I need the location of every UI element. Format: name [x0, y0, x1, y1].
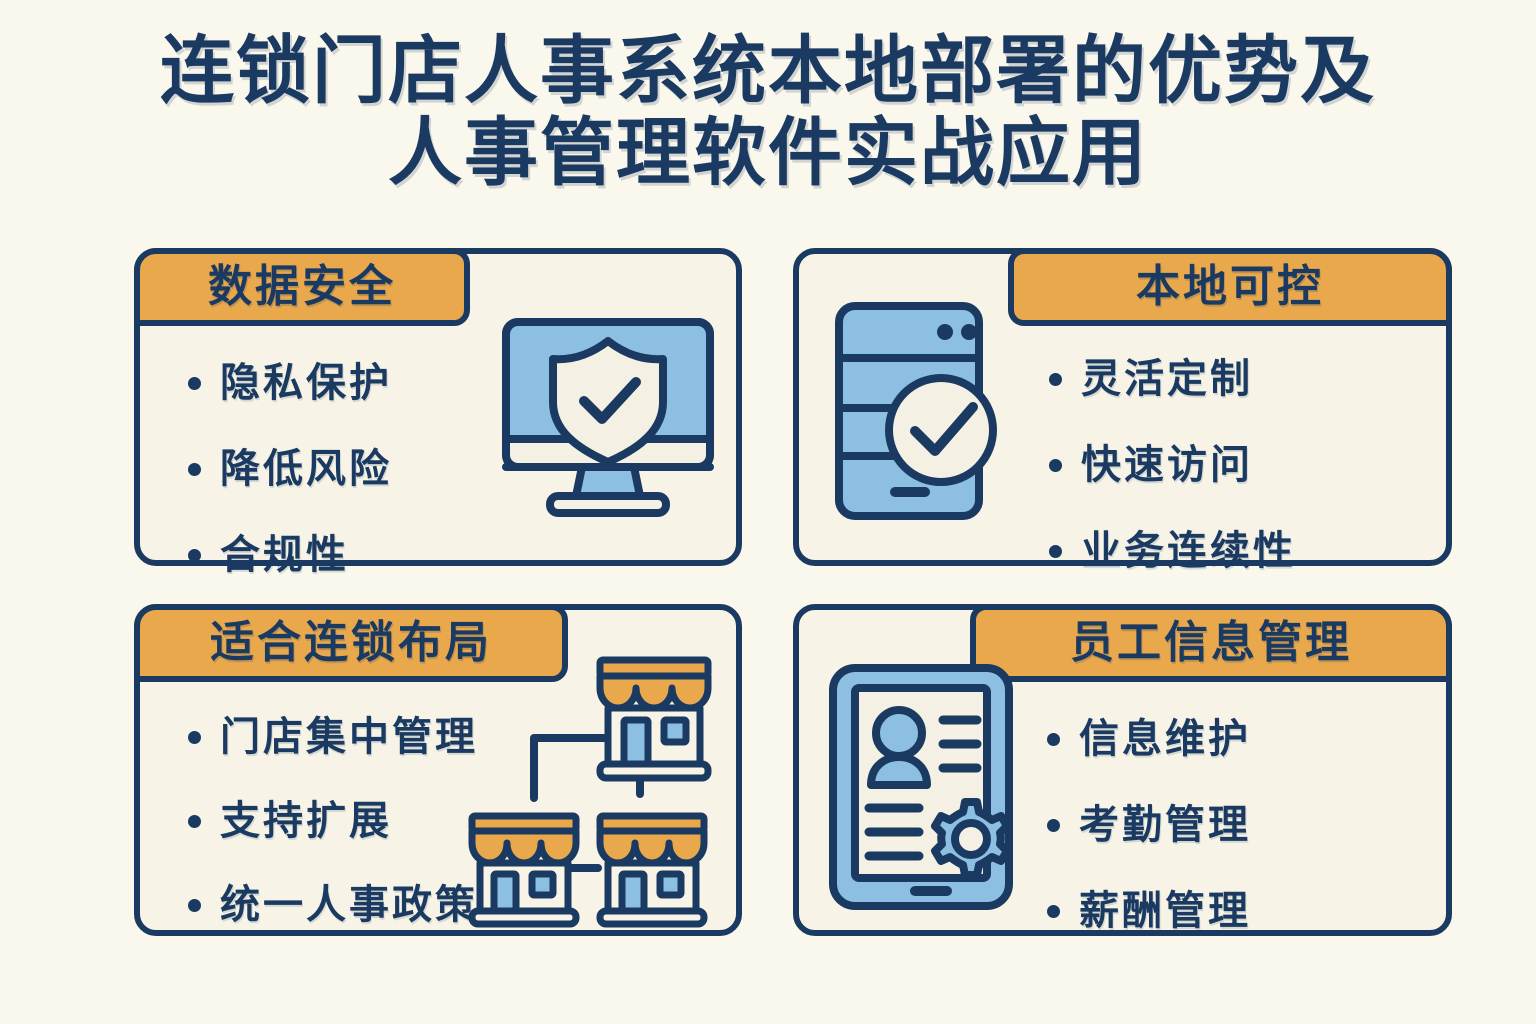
page-title-line-2: 人事管理软件实战应用	[0, 112, 1536, 194]
bullet-list: 灵活定制 快速访问 业务连续性	[1049, 358, 1296, 572]
list-item-label: 门店集中管理	[220, 716, 478, 758]
card-employee-info[interactable]: 员工信息管理 信息维护 考勤管理 薪酬管理	[793, 604, 1452, 936]
bullet-dot-icon	[1047, 733, 1060, 746]
list-item: 降低风险	[188, 448, 392, 490]
list-item: 信息维护	[1047, 718, 1251, 760]
list-item-label: 业务连续性	[1081, 530, 1296, 572]
card-header-label: 数据安全	[208, 264, 396, 310]
bullet-dot-icon	[1049, 459, 1062, 472]
list-item: 隐私保护	[188, 362, 392, 404]
card-header-label: 员工信息管理	[1070, 620, 1352, 666]
list-item: 灵活定制	[1049, 358, 1296, 400]
server-check-icon	[833, 300, 1013, 522]
list-item-label: 薪酬管理	[1079, 890, 1251, 932]
list-item-label: 合规性	[220, 534, 349, 576]
list-item-label: 支持扩展	[220, 800, 392, 842]
card-header-label: 本地可控	[1136, 264, 1324, 310]
page-title: 连锁门店人事系统本地部署的优势及 人事管理软件实战应用	[0, 30, 1536, 194]
bullet-dot-icon	[1049, 545, 1062, 558]
monitor-shield-icon	[498, 316, 718, 522]
list-item: 统一人事政策	[188, 884, 478, 926]
bullet-list: 门店集中管理 支持扩展 统一人事政策	[188, 716, 478, 926]
bullet-dot-icon	[1049, 373, 1062, 386]
list-item-label: 快速访问	[1081, 444, 1253, 486]
bullet-list: 信息维护 考勤管理 薪酬管理	[1047, 718, 1251, 932]
bullet-dot-icon	[188, 815, 201, 828]
card-chain-layout[interactable]: 适合连锁布局 门店集中管理 支持扩展 统一人事政策	[134, 604, 742, 936]
list-item-label: 灵活定制	[1081, 358, 1253, 400]
card-header-badge: 本地可控	[1008, 248, 1452, 326]
list-item: 快速访问	[1049, 444, 1296, 486]
bullet-dot-icon	[1047, 819, 1060, 832]
card-local-control[interactable]: 本地可控 灵活定制 快速访问 业务连续性	[793, 248, 1452, 566]
bullet-dot-icon	[188, 899, 201, 912]
list-item: 合规性	[188, 534, 392, 576]
card-data-security[interactable]: 数据安全 隐私保护 降低风险 合规性	[134, 248, 742, 566]
list-item: 支持扩展	[188, 800, 478, 842]
bullet-list: 隐私保护 降低风险 合规性	[188, 362, 392, 576]
bullet-dot-icon	[188, 463, 201, 476]
list-item: 薪酬管理	[1047, 890, 1251, 932]
bullet-dot-icon	[188, 549, 201, 562]
card-header-badge: 数据安全	[134, 248, 470, 326]
list-item-label: 隐私保护	[220, 362, 392, 404]
bullet-dot-icon	[1047, 905, 1060, 918]
store-network-icon	[470, 652, 730, 924]
card-header-badge: 员工信息管理	[970, 604, 1452, 682]
list-item: 门店集中管理	[188, 716, 478, 758]
card-header-label: 适合连锁布局	[210, 620, 492, 666]
bullet-dot-icon	[188, 731, 201, 744]
list-item: 考勤管理	[1047, 804, 1251, 846]
list-item-label: 降低风险	[220, 448, 392, 490]
list-item: 业务连续性	[1049, 530, 1296, 572]
employee-card-icon	[827, 662, 1035, 912]
list-item-label: 统一人事政策	[220, 884, 478, 926]
page-title-line-1: 连锁门店人事系统本地部署的优势及	[0, 30, 1536, 112]
list-item-label: 信息维护	[1079, 718, 1251, 760]
bullet-dot-icon	[188, 377, 201, 390]
infographic-page: 连锁门店人事系统本地部署的优势及 人事管理软件实战应用 数据安全 隐私保护 降低…	[0, 0, 1536, 1024]
list-item-label: 考勤管理	[1079, 804, 1251, 846]
